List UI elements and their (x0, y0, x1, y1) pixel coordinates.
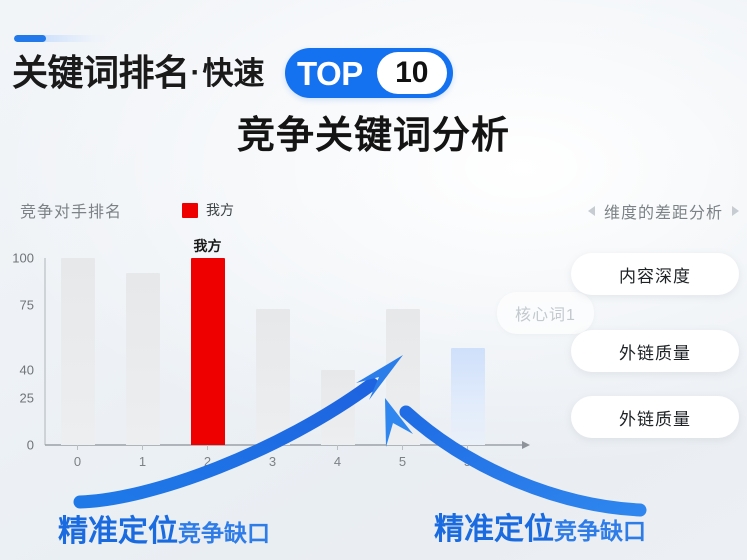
chart-axis-caption: 竞争对手排名 (20, 198, 122, 222)
x-axis-tick: 4 (334, 454, 341, 469)
chart-bar[interactable] (126, 273, 160, 445)
chart-bar[interactable] (321, 370, 355, 445)
triangle-left-icon (588, 206, 595, 216)
ghost-keyword-chip: 核心词1 (497, 292, 594, 334)
y-axis-tick: 75 (0, 297, 34, 312)
legend-label: 我方 (206, 200, 234, 220)
chart-bar[interactable] (191, 258, 225, 445)
top-rank-badge: TOP 10 (285, 48, 453, 98)
y-axis-tick: 0 (0, 438, 34, 453)
x-axis-tick: 2 (204, 454, 211, 469)
x-axis-tick: 1 (139, 454, 146, 469)
caption-right-secondary: 竞争缺口 (554, 512, 646, 546)
bar-annotation-label: 我方 (194, 236, 222, 256)
caption-right: 精准定位 竞争缺口 (434, 504, 646, 548)
poster-root: 关键词排名 · 快速 TOP 10 竞争关键词分析 竞争对手排名 我方 维度的差… (0, 0, 747, 560)
chart-legend: 我方 (182, 200, 234, 220)
caption-right-primary: 精准定位 (434, 504, 554, 548)
dimension-pill-1[interactable]: 外链质量 (571, 330, 739, 372)
x-axis-tick: 5 (399, 454, 406, 469)
legend-swatch-icon (182, 203, 198, 218)
caption-left: 精准定位 竞争缺口 (58, 506, 270, 550)
bar-chart: 02540751000123455我方 (0, 240, 560, 480)
kicker-main-text: 关键词排名 (12, 55, 190, 91)
kicker-separator-dot: · (191, 56, 201, 90)
dimension-header: 维度的差距分析 (588, 199, 739, 223)
chart-bar[interactable] (451, 348, 485, 445)
x-axis-tick: 5 (464, 454, 471, 469)
y-axis-tick: 100 (0, 251, 34, 266)
page-title: 竞争关键词分析 (0, 114, 747, 160)
chart-bar[interactable] (256, 309, 290, 446)
top-badge-label: TOP (297, 57, 363, 90)
x-axis-tick: 0 (74, 454, 81, 469)
top-badge-number-pill: 10 (377, 52, 447, 94)
dimension-pill-0[interactable]: 内容深度 (571, 253, 739, 295)
chart-bar[interactable] (61, 258, 95, 445)
caption-left-secondary: 竞争缺口 (178, 514, 270, 548)
dimension-pill-2[interactable]: 外链质量 (571, 396, 739, 438)
kicker-sub-text: 快速 (203, 58, 265, 89)
dimension-title: 维度的差距分析 (604, 199, 723, 223)
y-axis-tick: 25 (0, 391, 34, 406)
triangle-right-icon (732, 206, 739, 216)
x-axis-tick: 3 (269, 454, 276, 469)
top-badge-number: 10 (395, 58, 428, 88)
chart-bar[interactable] (386, 309, 420, 446)
progress-track (14, 35, 112, 42)
progress-fill (14, 35, 46, 42)
kicker-row: 关键词排名 · 快速 (12, 44, 265, 102)
y-axis-tick: 40 (0, 363, 34, 378)
caption-left-primary: 精准定位 (58, 506, 178, 550)
